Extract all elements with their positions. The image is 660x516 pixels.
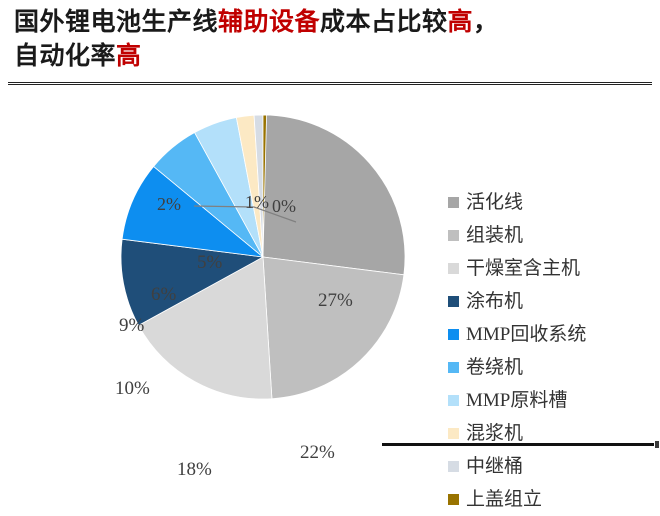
- legend-item-label: 卷绕机: [466, 358, 523, 377]
- legend-swatch-icon: [448, 230, 459, 241]
- pie-label-9: 9%: [119, 316, 144, 335]
- legend-item[interactable]: 涂布机: [448, 285, 654, 318]
- pie-slice[interactable]: [263, 257, 404, 399]
- page-title-segment-7-highlight: 高: [116, 43, 142, 70]
- pie-chart: 27% 22% 18% 10% 9% 6% 5% 2% 1% 0% 活化线组装机…: [0, 88, 660, 428]
- legend-item[interactable]: 中继桶: [448, 450, 654, 483]
- legend-swatch-icon: [448, 395, 459, 406]
- pie-label-6: 6%: [151, 285, 176, 304]
- pie-slice[interactable]: [263, 115, 405, 275]
- page-title-segment-3: 成本占比较: [320, 9, 448, 36]
- legend-item-label: MMP回收系统: [466, 325, 586, 344]
- legend-item-label: 混浆机: [466, 424, 523, 443]
- legend-item[interactable]: 上盖组立: [448, 483, 654, 516]
- legend-swatch-icon: [448, 263, 459, 274]
- pie-label-10: 10%: [115, 379, 150, 398]
- pie-label-0: 0%: [272, 197, 296, 215]
- page-title-segment-1: 国外锂电池生产线: [14, 9, 218, 36]
- pie-label-18: 18%: [177, 460, 212, 479]
- legend-item[interactable]: 卷绕机: [448, 351, 654, 384]
- legend-item[interactable]: 干燥室含主机: [448, 252, 654, 285]
- legend-swatch-icon: [448, 494, 459, 505]
- title-divider: [8, 82, 652, 85]
- pie-slices: [121, 115, 405, 399]
- legend-item-label: 组装机: [466, 226, 523, 245]
- legend-swatch-icon: [448, 362, 459, 373]
- pie-label-1: 1%: [245, 193, 269, 211]
- pie-label-2: 2%: [157, 195, 181, 213]
- pie-svg: [120, 114, 406, 400]
- legend-item[interactable]: MMP原料槽: [448, 384, 654, 417]
- legend-swatch-icon: [448, 428, 459, 439]
- legend-item[interactable]: 活化线: [448, 186, 654, 219]
- legend-item-label: MMP原料槽: [466, 391, 567, 410]
- page-title: 国外锂电池生产线辅助设备成本占比较高，自动化率高: [14, 6, 650, 74]
- pie-label-22: 22%: [300, 443, 335, 462]
- legend-swatch-icon: [448, 461, 459, 472]
- pie-graphic: [120, 114, 406, 400]
- legend-item-label: 活化线: [466, 193, 523, 212]
- legend-swatch-icon: [448, 197, 459, 208]
- footer-divider: [382, 443, 654, 446]
- page-title-segment-5: ，: [473, 9, 499, 36]
- legend-item[interactable]: 组装机: [448, 219, 654, 252]
- legend-item-label: 干燥室含主机: [466, 259, 580, 278]
- page-title-segment-2-highlight: 辅助设备: [218, 9, 320, 36]
- legend-swatch-icon: [448, 296, 459, 307]
- page-title-segment-4-highlight: 高: [448, 9, 474, 36]
- legend-item-label: 涂布机: [466, 292, 523, 311]
- legend-item-label: 上盖组立: [466, 490, 542, 509]
- legend-swatch-icon: [448, 329, 459, 340]
- page-title-segment-6: 自动化率: [14, 43, 116, 70]
- pie-label-5: 5%: [197, 253, 222, 272]
- legend-item-label: 中继桶: [466, 457, 523, 476]
- pie-label-27: 27%: [318, 291, 353, 310]
- legend-item[interactable]: MMP回收系统: [448, 318, 654, 351]
- footer-tick-mark: [655, 441, 659, 448]
- chart-legend: 活化线组装机干燥室含主机涂布机MMP回收系统卷绕机MMP原料槽混浆机中继桶上盖组…: [448, 186, 654, 516]
